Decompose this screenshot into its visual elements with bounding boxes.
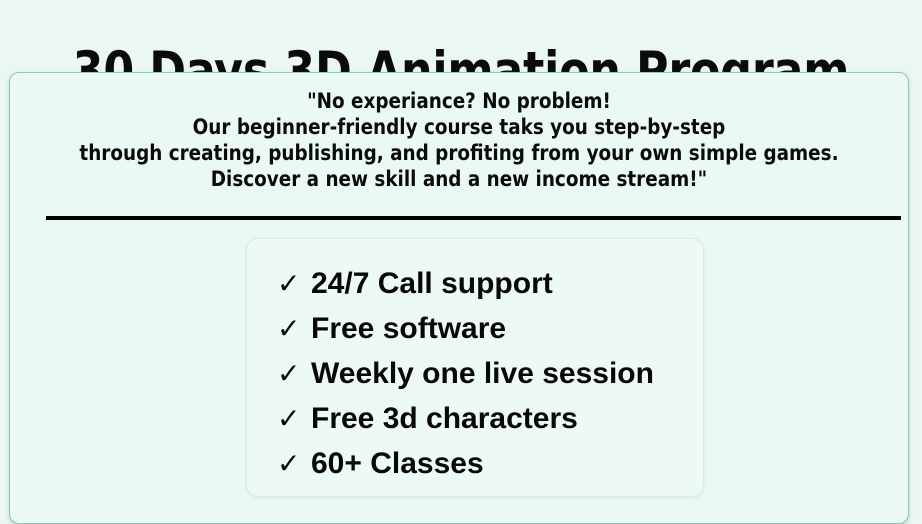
list-item: ✓ Weekly one live session	[277, 351, 703, 396]
feature-label: 60+ Classes	[311, 441, 484, 486]
promo-card: "No experiance? No problem! Our beginner…	[9, 72, 909, 524]
section-divider	[46, 216, 901, 220]
list-item: ✓ 60+ Classes	[277, 441, 703, 486]
feature-label: Weekly one live session	[311, 351, 654, 396]
list-item: ✓ Free 3d characters	[277, 396, 703, 441]
list-item: ✓ 24/7 Call support	[277, 261, 703, 306]
feature-label: 24/7 Call support	[311, 261, 553, 306]
promo-paragraph: "No experiance? No problem! Our beginner…	[32, 89, 885, 193]
promo-poster: 30 Days 3D Animation Program "No experia…	[0, 0, 922, 518]
promo-line-1: "No experiance? No problem!	[32, 89, 885, 115]
feature-label: Free software	[311, 306, 506, 351]
list-item: ✓ Free software	[277, 306, 703, 351]
promo-line-3: through creating, publishing, and profit…	[32, 141, 885, 167]
promo-line-4: Discover a new skill and a new income st…	[32, 167, 885, 193]
check-icon: ✓	[277, 351, 311, 396]
check-icon: ✓	[277, 441, 311, 486]
features-list: ✓ 24/7 Call support ✓ Free software ✓ We…	[247, 239, 703, 486]
check-icon: ✓	[277, 306, 311, 351]
check-icon: ✓	[277, 261, 311, 306]
feature-label: Free 3d characters	[311, 396, 578, 441]
check-icon: ✓	[277, 396, 311, 441]
promo-line-2: Our beginner-friendly course taks you st…	[32, 115, 885, 141]
features-card: ✓ 24/7 Call support ✓ Free software ✓ We…	[246, 238, 704, 497]
